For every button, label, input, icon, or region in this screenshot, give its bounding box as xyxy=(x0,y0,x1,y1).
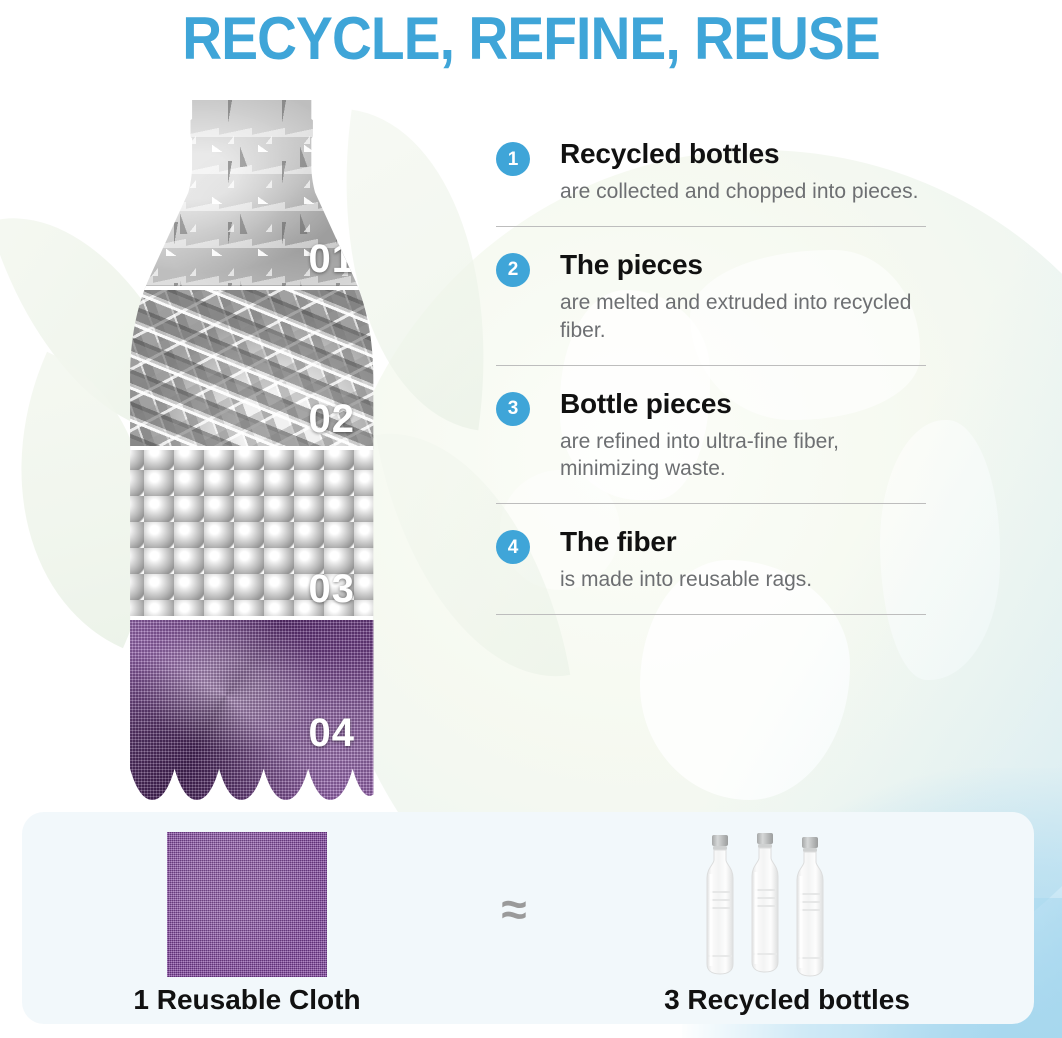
bottle-band-03: 03 xyxy=(120,450,385,620)
step-number-badge: 4 xyxy=(496,530,530,564)
step-heading: The pieces xyxy=(560,249,926,281)
purple-cloth-texture xyxy=(120,620,385,800)
step-item-1: 1 Recycled bottles are collected and cho… xyxy=(496,138,926,206)
step-heading: Bottle pieces xyxy=(560,388,926,420)
step-divider xyxy=(496,614,926,615)
step-item-4: 4 The fiber is made into reusable rags. xyxy=(496,526,926,594)
step-divider xyxy=(496,365,926,366)
bottles-label: 3 Recycled bottles xyxy=(622,984,952,1016)
step-body: is made into reusable rags. xyxy=(560,566,926,594)
page-title: RECYCLE, REFINE, REUSE xyxy=(42,4,1019,73)
bottle-band-label: 04 xyxy=(309,711,356,756)
infographic-page: RECYCLE, REFINE, REUSE 01 02 03 xyxy=(0,0,1062,1038)
recycled-bottles-illustration xyxy=(702,830,862,980)
step-body: are collected and chopped into pieces. xyxy=(560,178,926,206)
step-heading: Recycled bottles xyxy=(560,138,926,170)
step-heading: The fiber xyxy=(560,526,926,558)
bottle-diagram: 01 02 03 04 xyxy=(120,100,385,800)
reusable-cloth-swatch xyxy=(167,832,327,977)
comparison-card: 1 Reusable Cloth ≈ xyxy=(22,812,1034,1024)
band-separator xyxy=(120,616,385,620)
bottle-band-02: 02 xyxy=(120,290,385,450)
step-number-badge: 1 xyxy=(496,142,530,176)
cloth-label: 1 Reusable Cloth xyxy=(82,984,412,1016)
step-number-badge: 2 xyxy=(496,253,530,287)
bottle-band-04: 04 xyxy=(120,620,385,800)
step-divider xyxy=(496,503,926,504)
approximately-equal-icon: ≈ xyxy=(484,886,544,932)
step-body: are refined into ultra-fine fiber, minim… xyxy=(560,428,926,483)
band-separator xyxy=(120,446,385,450)
step-body: are melted and extruded into recycled fi… xyxy=(560,289,926,344)
step-number-badge: 3 xyxy=(496,392,530,426)
bottle-band-label: 03 xyxy=(309,567,356,612)
step-item-3: 3 Bottle pieces are refined into ultra-f… xyxy=(496,388,926,484)
steps-list: 1 Recycled bottles are collected and cho… xyxy=(496,138,926,637)
bottle-band-label: 01 xyxy=(309,237,356,282)
bottle-band-01: 01 xyxy=(120,100,385,290)
step-item-2: 2 The pieces are melted and extruded int… xyxy=(496,249,926,345)
step-divider xyxy=(496,226,926,227)
bottle-band-label: 02 xyxy=(309,397,356,442)
band-separator xyxy=(120,286,385,290)
